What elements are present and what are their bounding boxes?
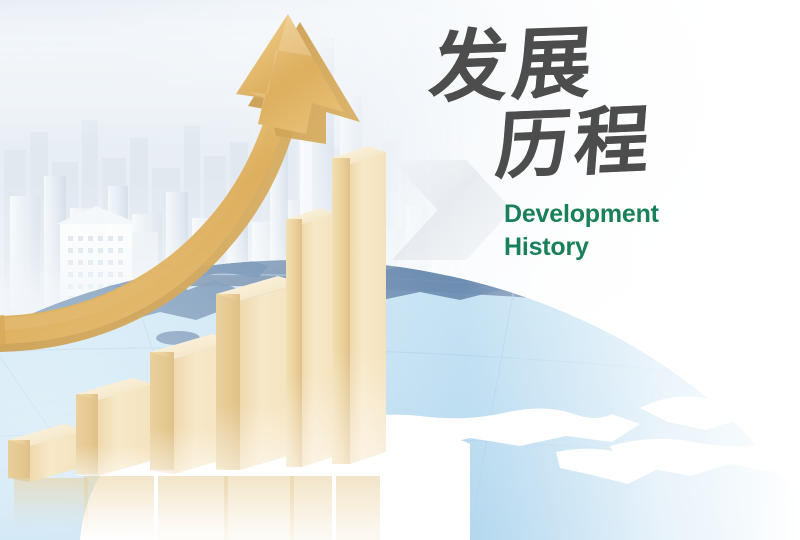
english-title: Development History [504, 198, 714, 264]
calligraphy-line-2: 历程 [493, 97, 718, 188]
headline-block: 发展 历程 Development History [424, 26, 714, 264]
development-history-banner: 发展 历程 Development History [0, 0, 800, 540]
